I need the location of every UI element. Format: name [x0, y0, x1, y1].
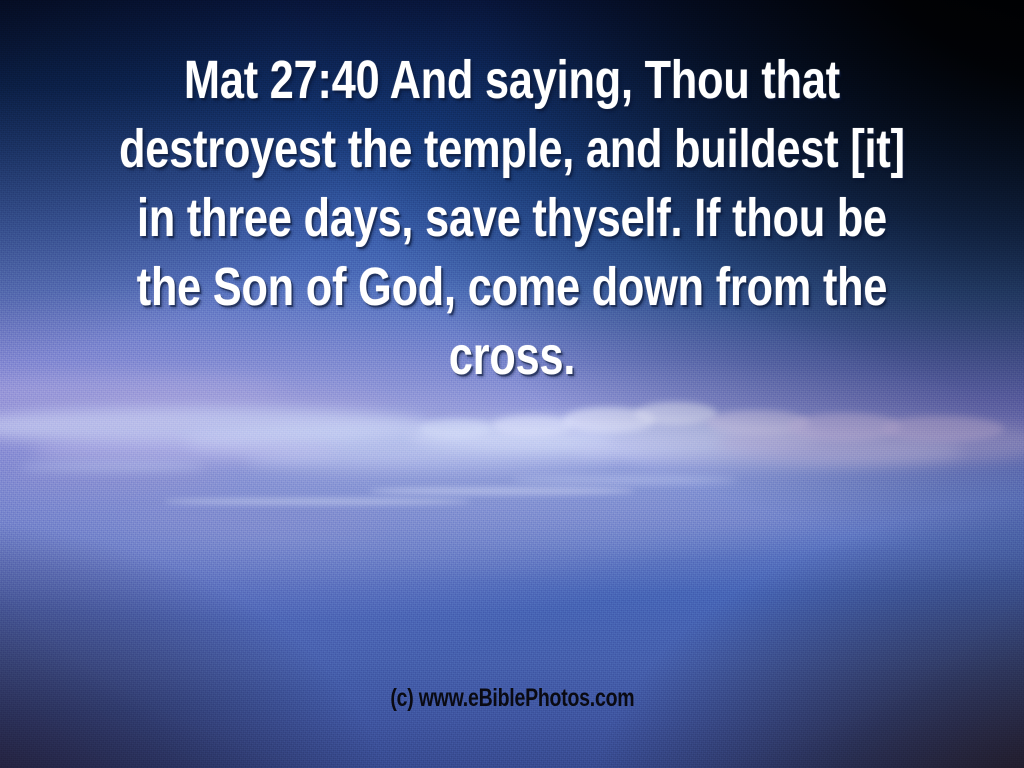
- cloud-haze: [0, 461, 225, 492]
- cloud-haze: [102, 389, 389, 417]
- cloud-wisp: [512, 476, 737, 484]
- cloud-puff: [420, 419, 492, 437]
- cloud-wisp: [20, 462, 204, 471]
- cloud-haze: [123, 507, 389, 533]
- cloud-haze: [0, 404, 205, 438]
- cloud-band: [31, 438, 338, 464]
- verse-line: Mat 27:40 And saying, Thou that: [107, 46, 917, 115]
- cloud-band: [246, 450, 615, 473]
- cloud-puff: [788, 413, 901, 441]
- cloud-puff: [563, 407, 655, 433]
- cloud-band: [0, 407, 430, 445]
- cloud-band: [717, 421, 1024, 464]
- credit-watermark: (c) www.eBiblePhotos.com: [0, 686, 1024, 711]
- cloud-puff: [492, 415, 574, 437]
- cloud-puff: [707, 410, 809, 435]
- cloud-puff: [881, 416, 1004, 442]
- cloud-band: [573, 432, 962, 469]
- cloud-band: [184, 425, 614, 459]
- cloud-band: [410, 416, 820, 456]
- cloud-wisp: [164, 498, 471, 505]
- verse-line: cross.: [107, 322, 917, 391]
- credit-text: (c) www.eBiblePhotos.com: [390, 686, 634, 711]
- verse-overlay: Mat 27:40 And saying, Thou that destroye…: [0, 46, 1024, 391]
- cloud-puff: [635, 402, 717, 425]
- cloud-wisp: [369, 487, 635, 495]
- scripture-photo-canvas: Mat 27:40 And saying, Thou that destroye…: [0, 0, 1024, 768]
- verse-line: in three days, save thyself. If thou be: [107, 184, 917, 253]
- verse-line: destroyest the temple, and buildest [it]: [107, 115, 917, 184]
- verse-line: the Son of God, come down from the: [107, 253, 917, 322]
